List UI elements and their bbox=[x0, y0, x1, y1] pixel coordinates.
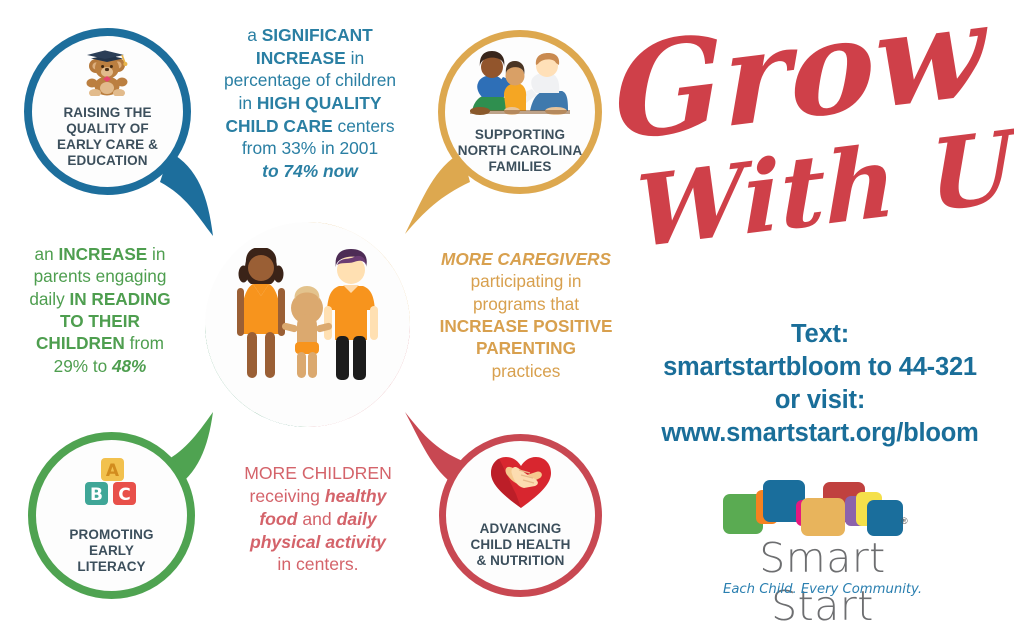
stat-segment: 29% to bbox=[54, 356, 112, 376]
family-of-three-icon bbox=[227, 248, 387, 398]
logo-tagline: Each Child. Every Community. bbox=[715, 582, 930, 597]
stat-high-quality-childcare: a SIGNIFICANTINCREASE inpercentage of ch… bbox=[204, 24, 416, 182]
stat-line: physical activity bbox=[216, 531, 420, 554]
headline-grow-with-us: Grow With Us! bbox=[604, 18, 1014, 258]
node-raising-quality[interactable]: RAISING THEQUALITY OFEARLY CARE &EDUCATI… bbox=[24, 28, 191, 195]
stat-segment: 48% bbox=[112, 356, 146, 376]
stat-line: an INCREASE in bbox=[2, 243, 198, 265]
stat-segment: CHILDREN bbox=[36, 333, 125, 353]
label-line: SUPPORTING bbox=[475, 127, 565, 142]
stat-segment: INCREASE bbox=[58, 244, 147, 264]
stat-segment: SIGNIFICANT bbox=[262, 25, 373, 45]
label-line: LITERACY bbox=[77, 559, 145, 574]
stat-segment: in centers. bbox=[277, 554, 358, 574]
stat-line: a SIGNIFICANT bbox=[204, 24, 416, 47]
stat-segment: from bbox=[125, 333, 164, 353]
stat-segment: in bbox=[346, 48, 364, 68]
contact-line-url[interactable]: www.smartstart.org/bloom bbox=[624, 417, 1016, 450]
stat-segment: practices bbox=[492, 361, 561, 381]
stat-segment: receiving bbox=[250, 486, 325, 506]
stat-line: MORE CHILDREN bbox=[216, 462, 420, 485]
stat-line: 29% to 48% bbox=[2, 355, 198, 377]
stat-line: TO THEIR bbox=[2, 310, 198, 332]
label-line: EARLY CARE & bbox=[57, 137, 158, 152]
stat-segment: parents engaging bbox=[34, 266, 167, 286]
stat-line: CHILD CARE centers bbox=[204, 115, 416, 138]
stat-segment: CHILD CARE bbox=[225, 116, 332, 136]
stat-segment: food bbox=[259, 509, 297, 529]
stat-segment: daily bbox=[29, 289, 69, 309]
smart-start-logo[interactable]: ® Smart Start Each Child. Every Communit… bbox=[715, 478, 930, 606]
node-label-supporting-families: SUPPORTINGNORTH CAROLINAFAMILIES bbox=[458, 127, 582, 175]
svg-text:A: A bbox=[105, 461, 119, 481]
stat-line: to 74% now bbox=[204, 160, 416, 183]
contact-block: Text: smartstartbloom to 44-321 or visit… bbox=[624, 318, 1016, 451]
label-line: CHILD HEALTH bbox=[471, 537, 571, 552]
label-line: QUALITY OF bbox=[66, 121, 149, 136]
stat-segment: participating in bbox=[471, 271, 582, 291]
stat-segment: centers bbox=[333, 116, 395, 136]
stat-segment: PARENTING bbox=[476, 338, 576, 358]
stat-segment: MORE CHILDREN bbox=[244, 463, 392, 483]
stat-line: INCREASE POSITIVE bbox=[424, 315, 628, 337]
stat-segment: in bbox=[238, 93, 256, 113]
abc-blocks-icon: A B C bbox=[76, 456, 148, 514]
contact-line-keyword: smartstartbloom to 44-321 bbox=[624, 351, 1016, 384]
svg-text:C: C bbox=[118, 485, 130, 505]
hub-center[interactable] bbox=[205, 222, 410, 427]
label-line: FAMILIES bbox=[488, 159, 551, 174]
node-supporting-families[interactable]: SUPPORTINGNORTH CAROLINAFAMILIES bbox=[438, 30, 602, 194]
stat-segment: INCREASE POSITIVE bbox=[440, 316, 613, 336]
label-line: & NUTRITION bbox=[476, 553, 564, 568]
stat-line: INCREASE in bbox=[204, 47, 416, 70]
heart-hand-icon bbox=[488, 454, 554, 510]
stat-segment: healthy bbox=[325, 486, 387, 506]
stat-line: receiving healthy bbox=[216, 485, 420, 508]
label-line: PROMOTING bbox=[69, 527, 153, 542]
teddy-bear-graduate-icon bbox=[81, 50, 135, 96]
stat-segment: MORE CAREGIVERS bbox=[441, 249, 611, 269]
stat-parents-reading: an INCREASE inparents engagingdaily IN R… bbox=[2, 243, 198, 377]
label-line: RAISING THE bbox=[63, 105, 151, 120]
label-line: EDUCATION bbox=[67, 153, 147, 168]
stat-line: in centers. bbox=[216, 553, 420, 576]
stat-line: parents engaging bbox=[2, 265, 198, 287]
stat-segment: from 33% in 2001 bbox=[242, 138, 378, 158]
stat-line: percentage of children bbox=[204, 69, 416, 92]
stat-line: CHILDREN from bbox=[2, 332, 198, 354]
node-label-child-health: ADVANCINGCHILD HEALTH& NUTRITION bbox=[471, 521, 571, 569]
node-label-raising-quality: RAISING THEQUALITY OFEARLY CARE &EDUCATI… bbox=[57, 105, 158, 169]
stat-segment: daily bbox=[337, 509, 377, 529]
svg-text:B: B bbox=[90, 485, 103, 505]
stat-segment: to 74% now bbox=[262, 161, 358, 181]
contact-line-text-label: Text: bbox=[624, 318, 1016, 351]
registered-mark: ® bbox=[901, 516, 908, 526]
stat-more-children-healthy-food: MORE CHILDRENreceiving healthyfood and d… bbox=[216, 462, 420, 576]
node-label-early-literacy: PROMOTINGEARLYLITERACY bbox=[69, 527, 153, 575]
node-early-literacy[interactable]: A B C PROMOTINGEARLYLITERACY bbox=[28, 432, 195, 599]
node-child-health[interactable]: ADVANCINGCHILD HEALTH& NUTRITION bbox=[439, 434, 602, 597]
stat-line: from 33% in 2001 bbox=[204, 137, 416, 160]
stat-segment: physical activity bbox=[250, 532, 386, 552]
contact-line-or-visit: or visit: bbox=[624, 384, 1016, 417]
stat-segment: percentage of children bbox=[224, 70, 396, 90]
stat-segment: programs that bbox=[473, 294, 579, 314]
stat-segment: and bbox=[297, 509, 336, 529]
stat-segment: INCREASE bbox=[256, 48, 346, 68]
stat-line: daily IN READING bbox=[2, 288, 198, 310]
logo-blocks-icon bbox=[723, 478, 923, 538]
family-sitting-icon bbox=[470, 49, 570, 119]
infographic-canvas: RAISING THEQUALITY OFEARLY CARE &EDUCATI… bbox=[0, 0, 1024, 625]
stat-line: PARENTING bbox=[424, 337, 628, 359]
stat-line: food and daily bbox=[216, 508, 420, 531]
stat-segment: an bbox=[35, 244, 59, 264]
stat-line: practices bbox=[424, 360, 628, 382]
stat-segment: a bbox=[247, 25, 262, 45]
stat-segment: TO THEIR bbox=[60, 311, 140, 331]
stat-segment: HIGH QUALITY bbox=[257, 93, 382, 113]
stat-line: participating in bbox=[424, 270, 628, 292]
stat-segment: IN READING bbox=[69, 289, 170, 309]
stat-line: in HIGH QUALITY bbox=[204, 92, 416, 115]
label-line: NORTH CAROLINA bbox=[458, 143, 582, 158]
stat-line: MORE CAREGIVERS bbox=[424, 248, 628, 270]
label-line: EARLY bbox=[89, 543, 134, 558]
stat-line: programs that bbox=[424, 293, 628, 315]
label-line: ADVANCING bbox=[480, 521, 562, 536]
stat-more-caregivers: MORE CAREGIVERSparticipating inprograms … bbox=[424, 248, 628, 382]
stat-segment: in bbox=[147, 244, 165, 264]
